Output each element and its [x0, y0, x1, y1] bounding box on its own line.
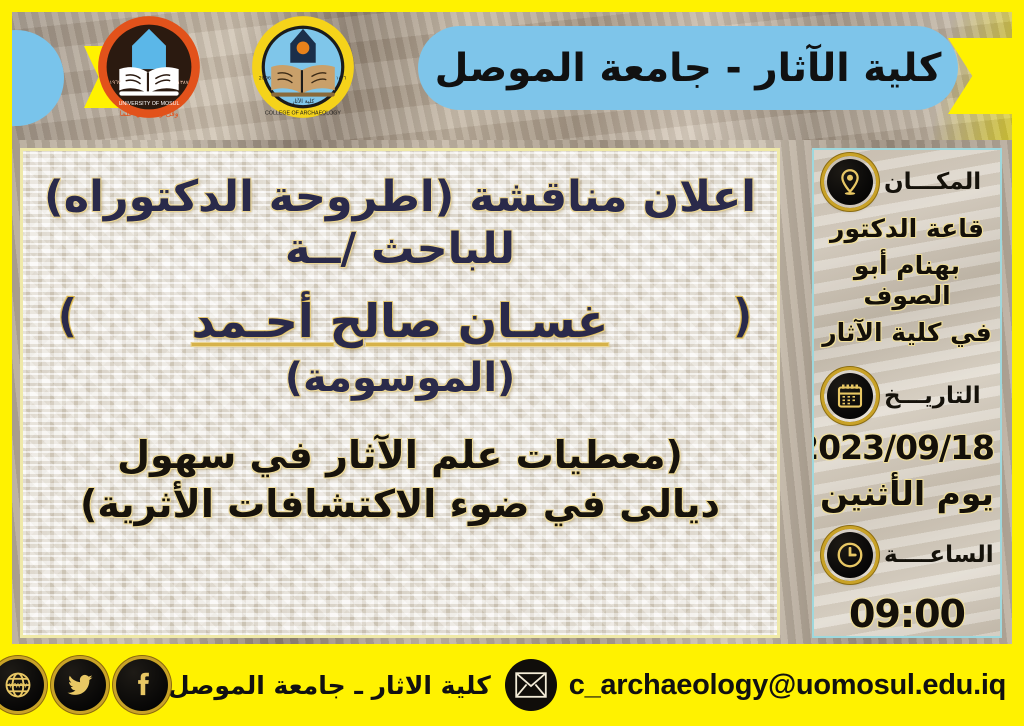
svg-text:2006: 2006: [259, 76, 271, 82]
date-label: التاريـــخ: [884, 383, 981, 409]
time-section-header: الساعــــة: [820, 529, 994, 581]
svg-text:١٣٨٧: ١٣٨٧: [177, 80, 189, 86]
calendar-icon: [824, 370, 876, 422]
svg-text:UNIVERSITY OF MOSUL: UNIVERSITY OF MOSUL: [119, 101, 180, 107]
social-links: WWW: [0, 659, 168, 711]
svg-text:١٩٦٧: ١٩٦٧: [109, 80, 121, 86]
website-icon[interactable]: WWW: [0, 659, 44, 711]
details-side-panel: المكـــان قاعة الدكتور بهنام أبو الصوف ف…: [812, 148, 1002, 638]
twitter-icon[interactable]: [54, 659, 106, 711]
header-blue-circle-decoration: [12, 30, 64, 126]
svg-text:١٤٢٦: ١٤٢٦: [336, 76, 347, 82]
envelope-icon: [505, 659, 557, 711]
thesis-title-block: (معطيات علم الآثار في سهول ديالى في ضوء …: [39, 431, 761, 528]
header-title-banner: كلية الآثار - جامعة الموصل: [418, 26, 958, 110]
thesis-entitled-label: (الموسومة): [39, 355, 761, 401]
day-value: يوم الأثنين: [820, 474, 994, 514]
svg-text:وقل رب زدني علما: وقل رب زدني علما: [120, 109, 179, 118]
announcement-poster: UNIVERSITY OF MOSUL ١٩٦٧ ١٣٨٧ وقل رب زدن…: [0, 0, 1024, 726]
location-pin-icon: [824, 156, 876, 208]
clock-icon: [824, 529, 876, 581]
header-ribbon-right-decoration: [948, 38, 1012, 114]
svg-text:COLLEGE OF ARCHAEOLOGY: COLLEGE OF ARCHAEOLOGY: [265, 111, 341, 117]
place-label: المكـــان: [884, 169, 981, 195]
header-title-text: كلية الآثار - جامعة الموصل: [435, 46, 942, 91]
thesis-title-line-2: ديالى في ضوء الاكتشافات الأثرية): [39, 480, 761, 529]
facebook-icon[interactable]: [116, 659, 168, 711]
announcement-headline: اعلان مناقشة (اطروحة الدكتوراه): [39, 173, 761, 223]
poster-footer: c_archaeology@uomosul.edu.iq كلية الاثار…: [0, 644, 1024, 726]
announcement-main-panel: اعلان مناقشة (اطروحة الدكتوراه) للباحث /…: [20, 148, 780, 638]
place-value-line-1: قاعة الدكتور: [820, 214, 994, 245]
researcher-label: للباحث /ــة: [39, 225, 761, 275]
date-section-header: التاريـــخ: [820, 370, 994, 422]
researcher-name: غسـان صالح أحـمد: [178, 294, 623, 348]
svg-text:WWW: WWW: [9, 683, 28, 690]
paren-open: (: [732, 289, 753, 343]
place-value-line-3: في كلية الآثار: [820, 318, 994, 349]
svg-text:كلية الآثار: كلية الآثار: [291, 97, 315, 105]
college-of-archaeology-logo: كلية الآثار COLLEGE OF ARCHAEOLOGY 2006 …: [250, 14, 356, 120]
researcher-name-row: ( غسـان صالح أحـمد ): [39, 293, 761, 349]
time-value: 09:00 AM: [820, 591, 994, 639]
time-label: الساعــــة: [884, 542, 994, 568]
place-value-line-2: بهنام أبو الصوف: [820, 251, 994, 312]
date-value: 2023/09/18: [820, 428, 994, 468]
contact-email[interactable]: c_archaeology@uomosul.edu.iq: [569, 669, 1006, 702]
place-section-header: المكـــان: [820, 156, 994, 208]
paren-close: ): [57, 289, 78, 343]
footer-college-name: كلية الاثار ـ جامعة الموصل: [168, 671, 491, 700]
university-of-mosul-logo: UNIVERSITY OF MOSUL ١٩٦٧ ١٣٨٧ وقل رب زدن…: [96, 14, 202, 120]
thesis-title-line-1: (معطيات علم الآثار في سهول: [39, 431, 761, 480]
